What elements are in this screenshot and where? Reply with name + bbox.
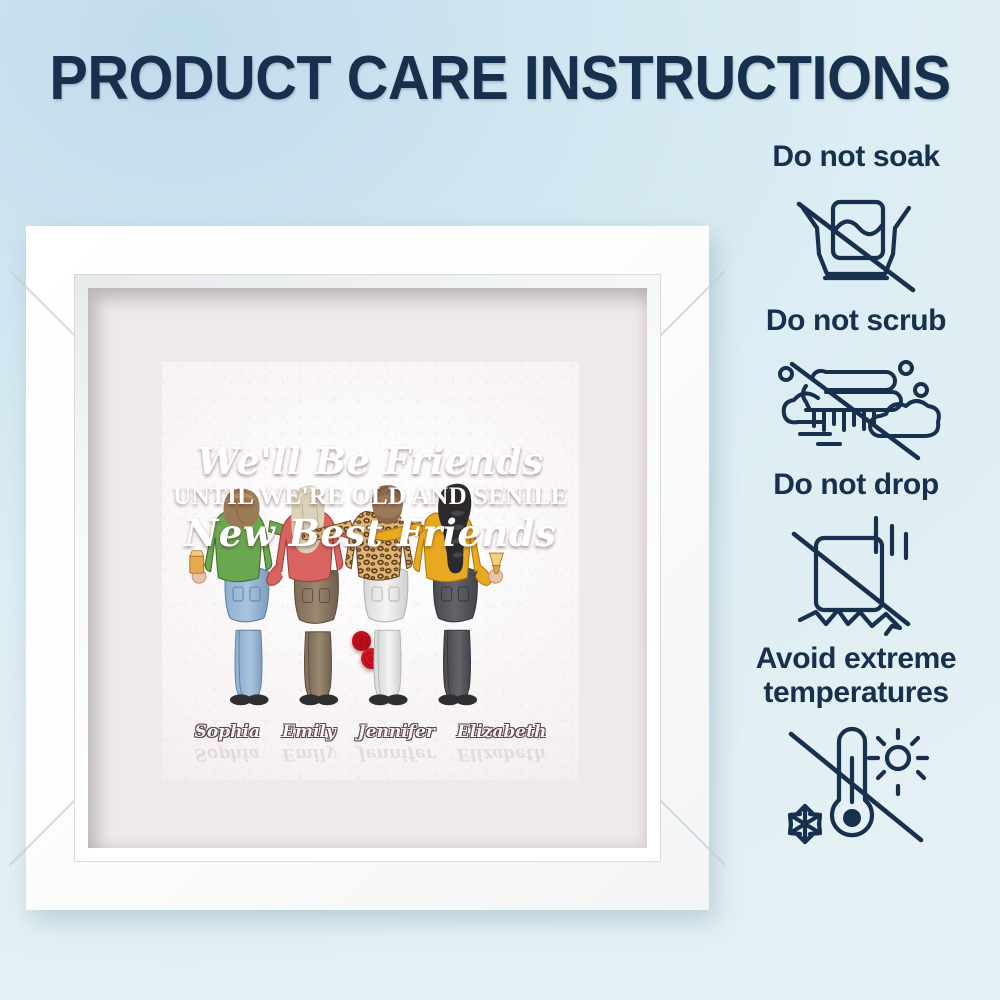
quote-line-3: New Best Friends (162, 512, 579, 554)
person-name-3: Jennifer (358, 722, 435, 742)
person-name-4: Elizabeth (457, 722, 546, 742)
person-name-3: Jennifer (358, 744, 435, 764)
shadow-box-recess: We'll Be Friends UNTIL WE'RE OLD AND SEN… (88, 288, 647, 848)
care-instructions-list: Do not soak Do not scrub (712, 140, 1000, 860)
care-item-avoid-extreme-temperatures: Avoid extreme temperatures (712, 642, 1000, 854)
personalized-names: SophiaEmilyJenniferElizabeth (162, 722, 579, 742)
no-extreme-temperature-icon (712, 714, 1000, 854)
care-label-do-not-soak: Do not soak (712, 140, 1000, 174)
care-label-do-not-drop: Do not drop (712, 468, 1000, 502)
care-item-do-not-drop: Do not drop (712, 468, 1000, 636)
person-name-2: Emily (282, 722, 336, 742)
quote-line-1: We'll Be Friends (162, 440, 579, 482)
no-scrub-icon (712, 342, 1000, 462)
picture-frame-moulding: We'll Be Friends UNTIL WE'RE OLD AND SEN… (26, 226, 709, 910)
product-frame-image: We'll Be Friends UNTIL WE'RE OLD AND SEN… (26, 226, 709, 910)
person-name-1: Sophia (195, 744, 260, 764)
no-drop-icon (712, 506, 1000, 636)
person-name-2: Emily (282, 744, 336, 764)
care-label-do-not-scrub: Do not scrub (712, 304, 1000, 338)
framed-artwork: We'll Be Friends UNTIL WE'RE OLD AND SEN… (162, 362, 579, 780)
person-name-1: Sophia (195, 722, 260, 742)
care-label-avoid-extreme-temperatures: Avoid extreme temperatures (712, 642, 1000, 710)
artwork-quote: We'll Be Friends UNTIL WE'RE OLD AND SEN… (162, 440, 579, 554)
no-soak-icon (712, 178, 1000, 298)
page-title: PRODUCT CARE INSTRUCTIONS (35, 44, 965, 114)
quote-line-2: UNTIL WE'RE OLD AND SENILE (162, 482, 579, 512)
care-item-do-not-soak: Do not soak (712, 140, 1000, 298)
care-item-do-not-scrub: Do not scrub (712, 304, 1000, 462)
personalized-names-reflection: SophiaEmilyJenniferElizabeth (162, 744, 579, 764)
person-name-4: Elizabeth (457, 744, 546, 764)
